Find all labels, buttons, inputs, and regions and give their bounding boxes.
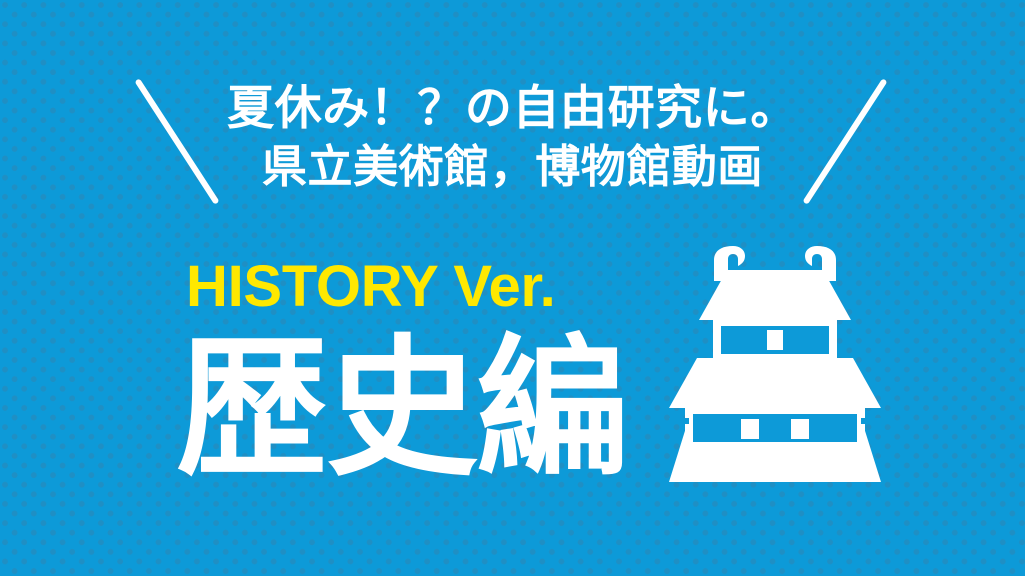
- left-slash-decoration: [134, 78, 219, 205]
- banner-graphic: 夏休み！？の自由研究に。 県立美術館，博物館動画 HISTORY Ver. 歴史…: [0, 0, 1025, 576]
- japanese-castle-icon: [655, 238, 895, 490]
- main-title: 歴史編: [176, 330, 627, 488]
- version-label: HISTORY Ver.: [186, 256, 555, 318]
- headline-line-2: 県立美術館，博物館動画: [0, 140, 1025, 194]
- right-slash-decoration: [802, 78, 887, 205]
